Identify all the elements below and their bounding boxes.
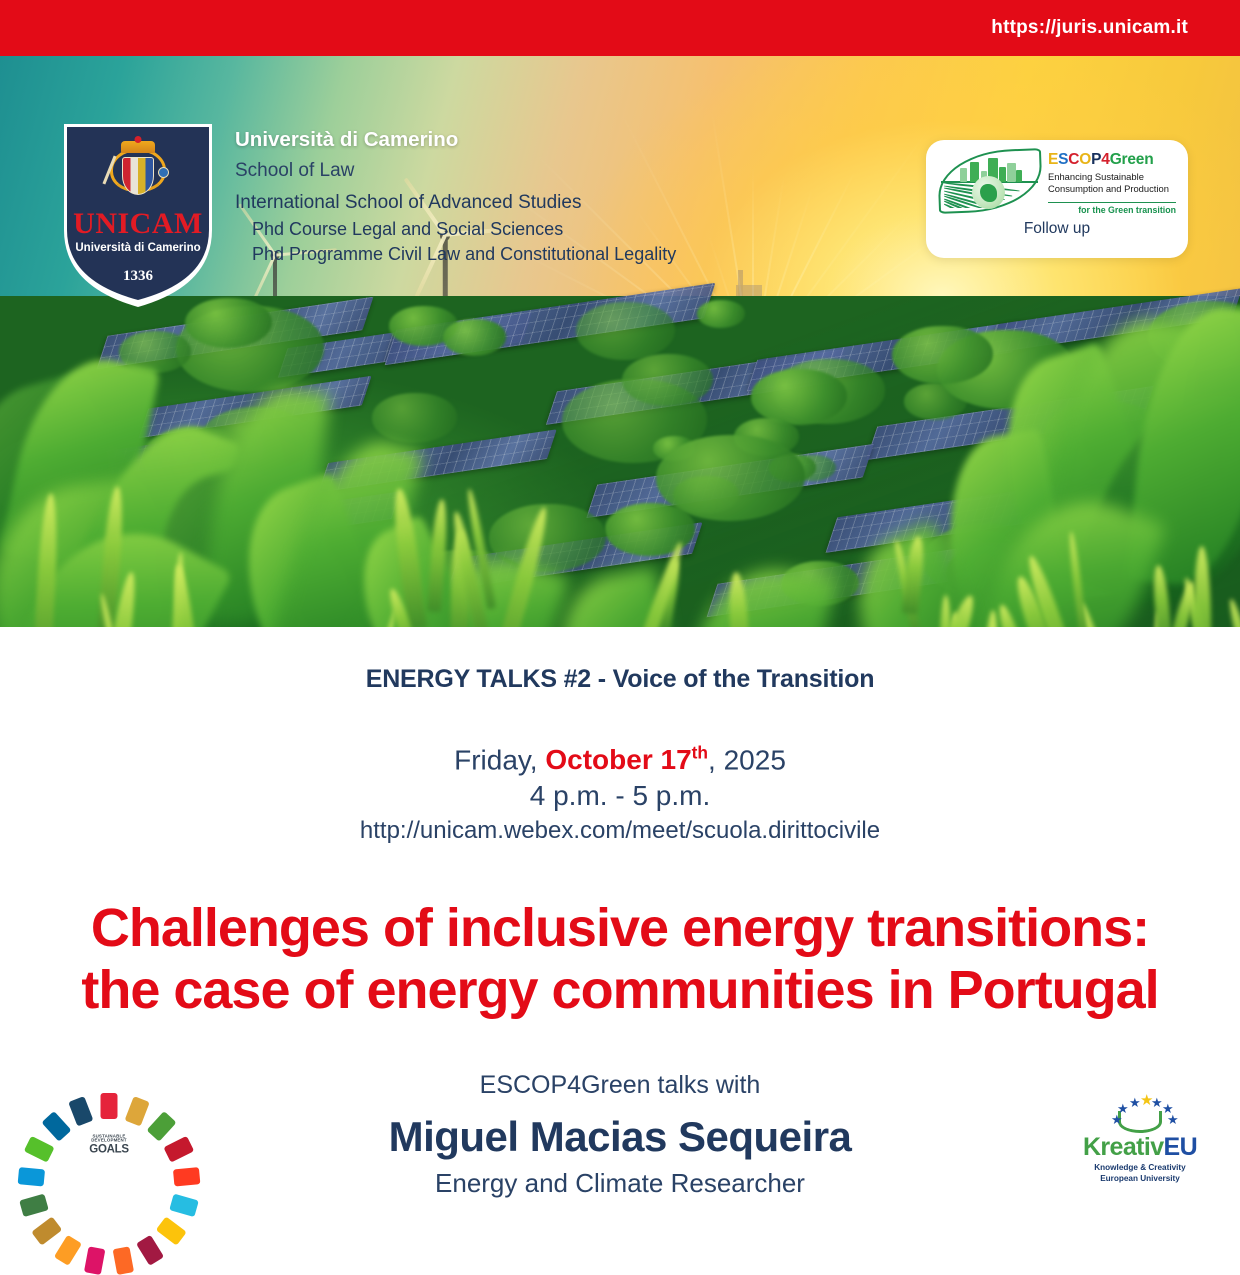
sdg-segment bbox=[31, 1216, 62, 1245]
coat-of-arms-icon bbox=[107, 141, 169, 203]
event-when-block: Friday, October 17th, 2025 4 p.m. - 5 p.… bbox=[0, 742, 1240, 846]
poster-body: ENERGY TALKS #2 - Voice of the Transitio… bbox=[0, 627, 1240, 1200]
main-title-line1: Challenges of inclusive energy transitio… bbox=[28, 898, 1212, 960]
speaker-intro: ESCOP4Green talks with bbox=[0, 1069, 1240, 1102]
escop-leaf-logo-icon bbox=[938, 150, 1042, 212]
bush bbox=[576, 302, 675, 360]
bush bbox=[372, 393, 458, 443]
escop-letter-6: Green bbox=[1110, 151, 1154, 168]
mini-building bbox=[1016, 170, 1022, 182]
escop4green-badge[interactable]: ESCOP4Green Enhancing Sustainable Consum… bbox=[926, 140, 1188, 258]
sdg-segment bbox=[54, 1235, 82, 1266]
stars-arc-icon: ★★★★★★★ bbox=[1109, 1095, 1171, 1133]
unicam-wordmark: UNICAM bbox=[67, 209, 209, 239]
sdg-segment bbox=[101, 1093, 118, 1119]
sdg-segment bbox=[68, 1096, 93, 1126]
kreativeu-sub-line2: European University bbox=[1080, 1174, 1200, 1185]
kreativeu-subtitle: Knowledge & Creativity European Universi… bbox=[1080, 1163, 1200, 1184]
escop-letter-5: 4 bbox=[1101, 151, 1109, 168]
star-icon: ★ bbox=[1117, 1102, 1129, 1115]
orb-icon bbox=[158, 167, 169, 178]
unicam-subtitle: Università di Camerino bbox=[67, 242, 209, 254]
sdg-segment bbox=[173, 1167, 200, 1186]
event-webex-link[interactable]: http://unicam.webex.com/meet/scuola.diri… bbox=[0, 815, 1240, 846]
date-prefix: Friday, bbox=[454, 744, 545, 775]
header-institute: International School of Advanced Studies bbox=[235, 190, 676, 217]
site-url-link[interactable]: https://juris.unicam.it bbox=[991, 17, 1240, 39]
event-date: Friday, October 17th, 2025 bbox=[0, 742, 1240, 778]
star-icon: ★ bbox=[1129, 1096, 1141, 1109]
escop-wordmark: ESCOP4Green bbox=[1048, 152, 1176, 168]
eu-text: EU bbox=[1164, 1133, 1198, 1161]
event-time: 4 p.m. - 5 p.m. bbox=[0, 778, 1240, 813]
globe-icon bbox=[972, 176, 1005, 209]
event-main-title: Challenges of inclusive energy transitio… bbox=[0, 898, 1240, 1021]
mini-building bbox=[960, 168, 967, 182]
sdg-logo: SUSTAINABLE DEVELOPMENT GOALS bbox=[55, 1091, 163, 1199]
escop-tagline-line1: Enhancing Sustainable bbox=[1048, 171, 1176, 183]
sdg-segment bbox=[136, 1235, 164, 1266]
sdg-segment bbox=[113, 1246, 134, 1275]
kreativeu-sub-line1: Knowledge & Creativity bbox=[1080, 1163, 1200, 1174]
escop-letter-2: C bbox=[1068, 151, 1079, 168]
main-title-line2: the case of energy communities in Portug… bbox=[28, 960, 1212, 1022]
escop-letter-0: E bbox=[1048, 151, 1058, 168]
unicam-logo: UNICAM Università di Camerino 1336 bbox=[58, 118, 218, 313]
escop-letter-3: O bbox=[1079, 151, 1091, 168]
bush bbox=[697, 300, 746, 328]
kreativ-text: Kreativ bbox=[1083, 1133, 1164, 1161]
escop-tagline: Enhancing Sustainable Consumption and Pr… bbox=[1048, 171, 1176, 195]
bush bbox=[443, 319, 507, 356]
star-icon: ★ bbox=[1167, 1113, 1179, 1126]
sdg-core-text: SUSTAINABLE DEVELOPMENT GOALS bbox=[85, 1134, 133, 1155]
header-university: Università di Camerino bbox=[235, 126, 676, 154]
top-red-banner: https://juris.unicam.it bbox=[0, 0, 1240, 56]
header-phd-course: Phd Course Legal and Social Sciences bbox=[235, 217, 676, 242]
escop-tagline-line2: Consumption and Production bbox=[1048, 183, 1176, 195]
date-ordinal: th bbox=[692, 743, 708, 763]
escop-text-block: ESCOP4Green Enhancing Sustainable Consum… bbox=[1048, 150, 1176, 215]
escop-letter-4: P bbox=[1091, 151, 1101, 168]
escutcheon-icon bbox=[122, 157, 154, 195]
star-icon: ★ bbox=[1151, 1096, 1163, 1109]
series-title: ENERGY TALKS #2 - Voice of the Transitio… bbox=[0, 665, 1240, 694]
bush bbox=[656, 435, 805, 521]
escop-badge-row: ESCOP4Green Enhancing Sustainable Consum… bbox=[938, 150, 1176, 215]
institution-header: Università di Camerino School of Law Int… bbox=[235, 126, 676, 267]
escop-green-transition: for the Green transition bbox=[1048, 202, 1176, 215]
date-highlight-text: October 17 bbox=[545, 744, 691, 775]
date-suffix: , 2025 bbox=[708, 744, 786, 775]
sdg-segment bbox=[84, 1246, 105, 1275]
mini-building bbox=[1007, 163, 1016, 182]
kreativeu-logo: ★★★★★★★ KreativEU Knowledge & Creativity… bbox=[1080, 1095, 1200, 1184]
escop-letter-1: S bbox=[1058, 151, 1068, 168]
kreativeu-wordmark: KreativEU bbox=[1080, 1135, 1200, 1160]
sdg-line3: GOALS bbox=[85, 1144, 133, 1156]
follow-up-label[interactable]: Follow up bbox=[938, 220, 1176, 238]
sdg-segment bbox=[156, 1216, 187, 1245]
header-phd-programme: Phd Programme Civil Law and Constitution… bbox=[235, 242, 676, 267]
date-highlight: October 17th bbox=[545, 744, 708, 775]
sdg-segment bbox=[125, 1096, 150, 1126]
sdg-segment bbox=[18, 1167, 45, 1186]
header-school: School of Law bbox=[235, 157, 676, 186]
crown-icon bbox=[121, 141, 155, 153]
